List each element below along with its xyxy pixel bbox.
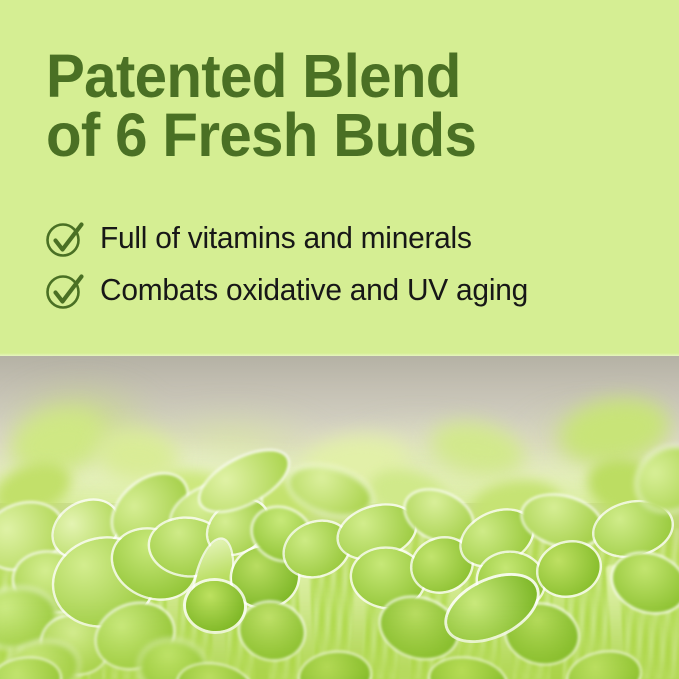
sprouts-photo <box>0 353 679 679</box>
list-item-label: Combats oxidative and UV aging <box>100 273 528 307</box>
circle-check-icon <box>44 268 88 312</box>
headline-panel: Patented Blend of 6 Fresh Buds Full of v… <box>0 0 679 356</box>
photo-bottom-fade <box>0 609 679 679</box>
circle-check-icon <box>44 216 88 260</box>
page-title: Patented Blend of 6 Fresh Buds <box>46 47 619 165</box>
list-item-label: Full of vitamins and minerals <box>100 221 472 255</box>
benefits-list: Full of vitamins and minerals Combats ox… <box>44 213 664 317</box>
list-item: Combats oxidative and UV aging <box>44 265 664 315</box>
photo-background-blur <box>0 353 679 679</box>
list-item: Full of vitamins and minerals <box>44 213 664 263</box>
product-feature-card: Patented Blend of 6 Fresh Buds Full of v… <box>0 0 679 679</box>
